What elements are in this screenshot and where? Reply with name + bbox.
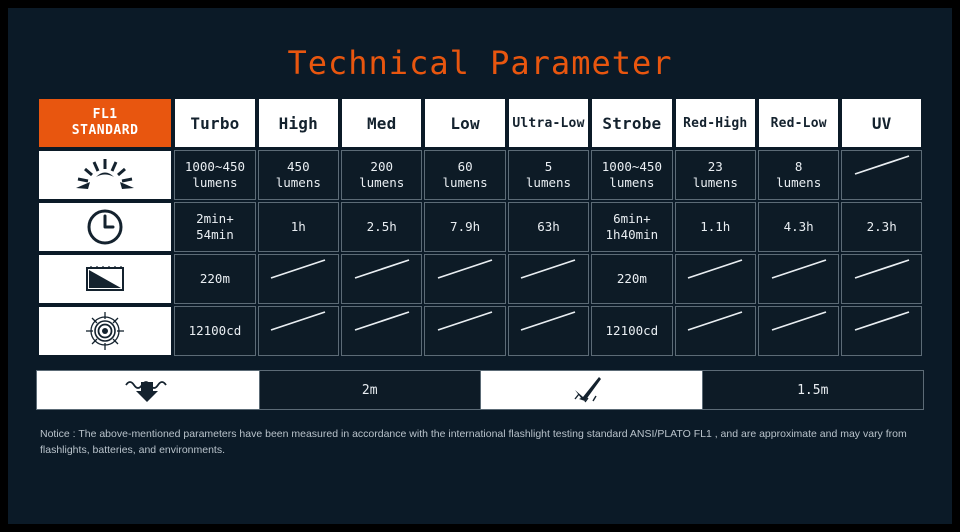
not-applicable-slash-icon (344, 308, 419, 354)
cell-line: 1.1h (678, 219, 753, 235)
cell-output-uv (841, 150, 922, 200)
not-applicable-slash-icon (678, 308, 753, 354)
cell-line: 54min (177, 227, 252, 243)
cell-line: 60 (427, 159, 502, 175)
spec-table: FL1 STANDARD Turbo High Med Low Ultra-Lo… (36, 96, 924, 358)
cell-line: lumens (594, 175, 669, 191)
cell-line: 1000~450 (177, 159, 252, 175)
cell-output-strobe: 1000~450lumens (591, 150, 672, 200)
cell-line: lumens (678, 175, 753, 191)
cell-line: 8 (761, 159, 836, 175)
cell-line: 450 (261, 159, 336, 175)
cell-line: 23 (678, 159, 753, 175)
cell-line: 12100cd (594, 323, 669, 339)
fl1-line-1: FL1 (41, 107, 169, 123)
cell-line: lumens (427, 175, 502, 191)
mode-header-low: Low (424, 98, 505, 148)
cell-beam_distance-low (424, 254, 505, 304)
cell-beam_distance-high (258, 254, 339, 304)
not-applicable-slash-icon (844, 256, 919, 302)
cell-output-low: 60lumens (424, 150, 505, 200)
page-title: Technical Parameter (8, 8, 952, 96)
cell-peak_beam_intensity-med (341, 306, 422, 356)
cell-runtime-red-low: 4.3h (758, 202, 839, 252)
cell-beam_distance-red-low (758, 254, 839, 304)
cell-peak_beam_intensity-uv (841, 306, 922, 356)
cell-line: 5 (511, 159, 586, 175)
cell-line: 1h40min (594, 227, 669, 243)
cell-beam_distance-strobe: 220m (591, 254, 672, 304)
cell-line: lumens (261, 175, 336, 191)
not-applicable-slash-icon (678, 256, 753, 302)
cell-line: 2.3h (844, 219, 919, 235)
not-applicable-slash-icon (427, 256, 502, 302)
mode-header-turbo: Turbo (174, 98, 255, 148)
clock-icon (41, 208, 169, 246)
light-burst-icon (41, 158, 169, 192)
cell-beam_distance-med (341, 254, 422, 304)
not-applicable-slash-icon (261, 256, 336, 302)
cell-beam_distance-ultra-low (508, 254, 589, 304)
cell-runtime-high: 1h (258, 202, 339, 252)
fl1-line-2: STANDARD (41, 123, 169, 139)
not-applicable-slash-icon (261, 308, 336, 354)
beam-distance-icon (41, 263, 169, 295)
mode-header-high: High (258, 98, 339, 148)
table-row: 1000~450lumens450lumens200lumens60lumens… (38, 150, 922, 200)
cell-line: 2.5h (344, 219, 419, 235)
cell-runtime-low: 7.9h (424, 202, 505, 252)
notice-text: Notice : The above-mentioned parameters … (40, 426, 920, 459)
not-applicable-slash-icon (761, 256, 836, 302)
not-applicable-slash-icon (511, 308, 586, 354)
peak-beam-intensity-icon-cell (38, 306, 172, 356)
cell-peak_beam_intensity-high (258, 306, 339, 356)
cell-line: lumens (344, 175, 419, 191)
table-row: 12100cd12100cd (38, 306, 922, 356)
mode-header-uv: UV (841, 98, 922, 148)
cell-line: lumens (177, 175, 252, 191)
clock-icon-cell (38, 202, 172, 252)
cell-output-med: 200lumens (341, 150, 422, 200)
table-row: 220m220m (38, 254, 922, 304)
cell-peak_beam_intensity-red-low (758, 306, 839, 356)
cell-runtime-red-high: 1.1h (675, 202, 756, 252)
cell-output-turbo: 1000~450lumens (174, 150, 255, 200)
not-applicable-slash-icon (427, 308, 502, 354)
cell-line: 7.9h (427, 219, 502, 235)
technical-parameter-card: Technical Parameter FL1 STANDARD Turbo H… (0, 0, 960, 532)
mode-header-red-high: Red-High (675, 98, 756, 148)
mode-header-ultra-low: Ultra-Low (508, 98, 589, 148)
cell-line: 220m (594, 271, 669, 287)
water-submersion-icon-cell (37, 371, 259, 409)
cell-beam_distance-turbo: 220m (174, 254, 255, 304)
table-row: 2min+54min1h2.5h7.9h63h6min+1h40min1.1h4… (38, 202, 922, 252)
durability-bar: 2m 1.5m (36, 370, 924, 410)
cell-line: lumens (761, 175, 836, 191)
not-applicable-slash-icon (344, 256, 419, 302)
cell-peak_beam_intensity-ultra-low (508, 306, 589, 356)
waterproof-value: 2m (259, 371, 481, 409)
cell-line: 2min+ (177, 211, 252, 227)
cell-runtime-uv: 2.3h (841, 202, 922, 252)
cell-runtime-strobe: 6min+1h40min (591, 202, 672, 252)
cell-line: 220m (177, 271, 252, 287)
mode-header-strobe: Strobe (591, 98, 672, 148)
mode-header-red-low: Red-Low (758, 98, 839, 148)
cell-runtime-med: 2.5h (341, 202, 422, 252)
impact-value: 1.5m (702, 371, 924, 409)
cell-output-red-high: 23lumens (675, 150, 756, 200)
spec-table-wrapper: FL1 STANDARD Turbo High Med Low Ultra-Lo… (36, 96, 924, 358)
cell-beam_distance-red-high (675, 254, 756, 304)
cell-beam_distance-uv (841, 254, 922, 304)
table-header-row: FL1 STANDARD Turbo High Med Low Ultra-Lo… (38, 98, 922, 148)
cell-line: 12100cd (177, 323, 252, 339)
cell-peak_beam_intensity-red-high (675, 306, 756, 356)
spec-table-body: 1000~450lumens450lumens200lumens60lumens… (38, 150, 922, 356)
peak-beam-intensity-icon (41, 311, 169, 351)
cell-peak_beam_intensity-turbo: 12100cd (174, 306, 255, 356)
cell-runtime-turbo: 2min+54min (174, 202, 255, 252)
cell-line: 6min+ (594, 211, 669, 227)
impact-resistance-icon-cell (480, 371, 702, 409)
cell-line: 1000~450 (594, 159, 669, 175)
cell-line: 200 (344, 159, 419, 175)
light-burst-icon-cell (38, 150, 172, 200)
beam-distance-icon-cell (38, 254, 172, 304)
cell-line: 63h (511, 219, 586, 235)
cell-peak_beam_intensity-strobe: 12100cd (591, 306, 672, 356)
cell-peak_beam_intensity-low (424, 306, 505, 356)
not-applicable-slash-icon (761, 308, 836, 354)
impact-resistance-icon (569, 375, 613, 405)
cell-output-high: 450lumens (258, 150, 339, 200)
water-submersion-icon (122, 376, 174, 404)
cell-line: 4.3h (761, 219, 836, 235)
not-applicable-slash-icon (844, 308, 919, 354)
cell-line: lumens (511, 175, 586, 191)
fl1-standard-header: FL1 STANDARD (38, 98, 172, 148)
cell-runtime-ultra-low: 63h (508, 202, 589, 252)
not-applicable-slash-icon (844, 152, 919, 198)
mode-header-med: Med (341, 98, 422, 148)
not-applicable-slash-icon (511, 256, 586, 302)
cell-output-ultra-low: 5lumens (508, 150, 589, 200)
cell-output-red-low: 8lumens (758, 150, 839, 200)
cell-line: 1h (261, 219, 336, 235)
